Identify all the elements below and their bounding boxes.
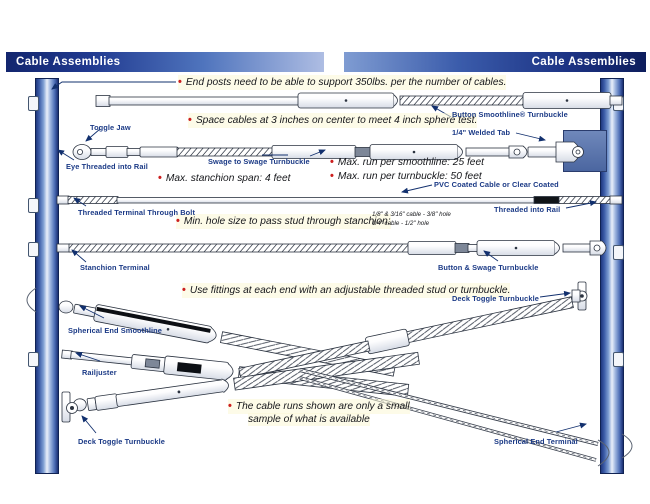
bullet-min-hole: Min. hole size to pass stud through stan… (176, 214, 391, 229)
label-welded-tab: 1/4" Welded Tab (452, 128, 510, 137)
label-pvc-coated-cable: PVC Coated Cable or Clear Coated (434, 180, 559, 189)
cable-run-3 (57, 196, 622, 204)
welded-tab-jaw (528, 142, 584, 162)
label-eye-threaded-into-rail: Eye Threaded into Rail (66, 162, 148, 171)
hole-spec-line-1: 1/8" & 3/16" cable - 3/8" hole (372, 211, 451, 220)
post-loop-right (622, 434, 632, 458)
cable-run-7-crossing-down (238, 294, 574, 381)
label-stanchion-terminal: Stanchion Terminal (80, 263, 150, 272)
bullet-space-cables: Space cables at 3 inches on center to me… (188, 113, 477, 128)
deck-toggle-upper (572, 282, 587, 310)
label-toggle-jaw: Toggle Jaw (90, 123, 131, 132)
label-deck-toggle-turnbuckle-bottom: Deck Toggle Turnbuckle (78, 437, 165, 446)
label-spherical-end-smoothline: Spherical End Smoothline (68, 326, 162, 335)
label-spherical-end-terminal: Spherical End Terminal (494, 437, 578, 446)
bullet-end-posts: End posts need to be able to support 350… (178, 75, 506, 90)
bullet-sample-line-1: The cable runs shown are only a small (228, 399, 410, 414)
label-threaded-into-rail: Threaded into Rail (494, 205, 560, 214)
hole-spec-line-2: 1/4" cable - 1/2" hole (372, 220, 429, 229)
bullet-sample-line-2: sample of what is available (248, 413, 370, 426)
bullet-stanchion-span: Max. stanchion span: 4 feet (158, 171, 290, 186)
cable-run-1 (96, 93, 622, 109)
label-swage-to-swage-turnbuckle: Swage to Swage Turnbuckle (208, 157, 310, 166)
label-threaded-terminal-through-bolt: Threaded Terminal Through Bolt (78, 208, 195, 217)
bullet-run-smoothline: Max. run per smoothline: 25 feet (330, 155, 484, 170)
label-button-smoothline-turnbuckle: Button Smoothline® Turnbuckle (452, 110, 568, 119)
cable-run-4 (57, 241, 606, 256)
catalog-page: Cable Assemblies Cable Assemblies (0, 0, 650, 504)
spherical-end-terminal-hw (598, 440, 609, 466)
label-deck-toggle-turnbuckle-top: Deck Toggle Turnbuckle (452, 294, 539, 303)
label-button-swage-turnbuckle: Button & Swage Turnbuckle (438, 263, 539, 272)
post-loop-left (27, 288, 36, 312)
deck-toggle-lower-left (62, 392, 78, 422)
label-railjuster: Railjuster (82, 368, 117, 377)
